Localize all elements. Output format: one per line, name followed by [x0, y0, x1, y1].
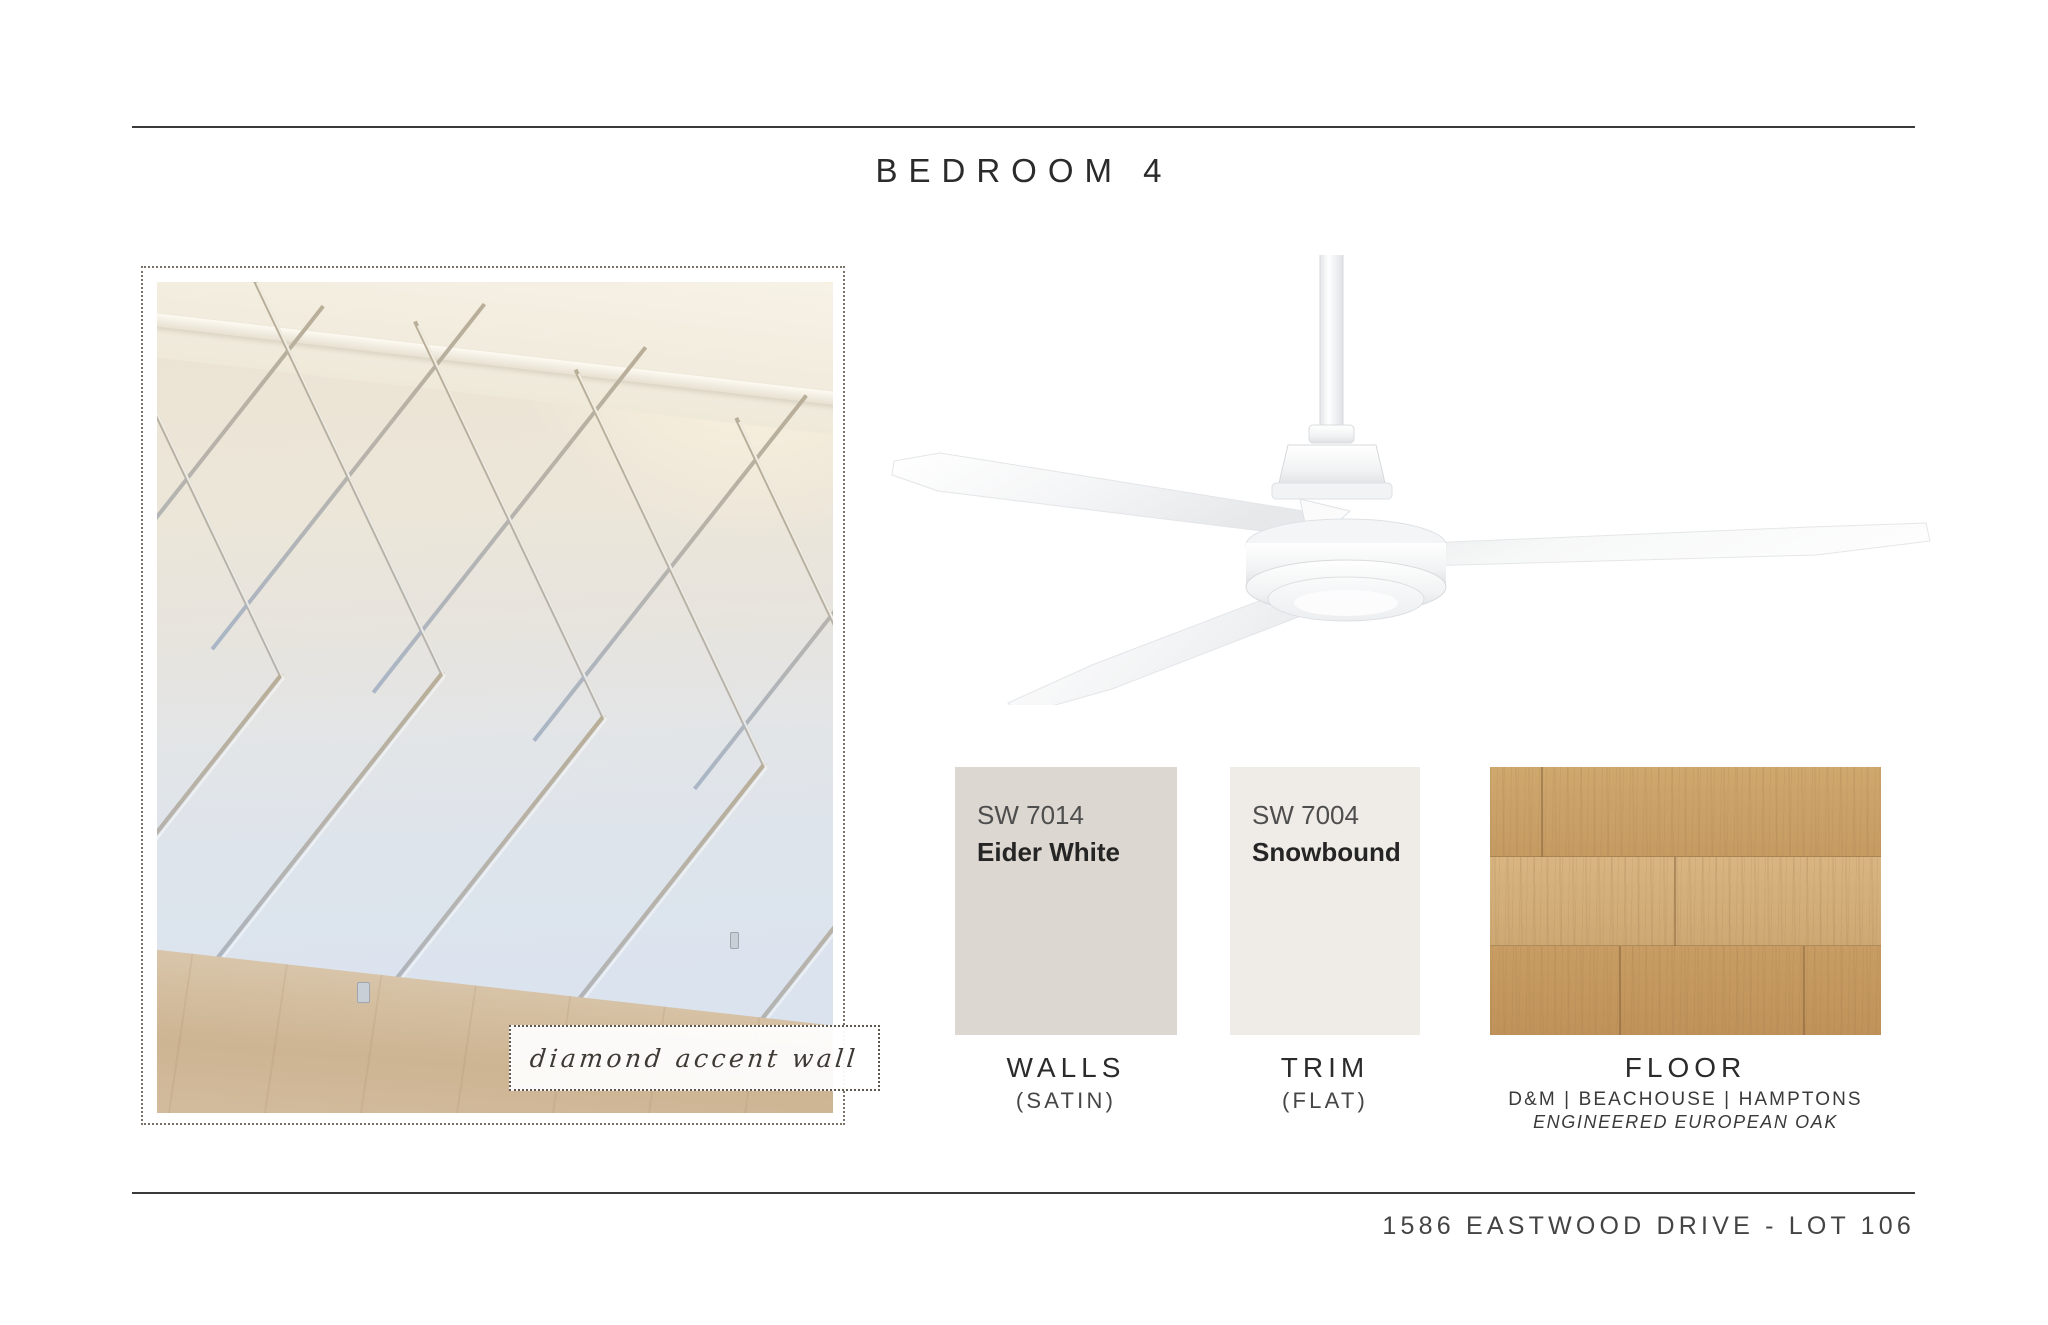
- swatch-spec-floor: ENGINEERED EUROPEAN OAK: [1490, 1112, 1881, 1133]
- swatch-label-floor: FLOOR: [1490, 1052, 1881, 1084]
- swatch-caption-walls: WALLS (SATIN): [955, 1052, 1177, 1114]
- paint-code-walls: SW 7014: [977, 800, 1084, 831]
- ceiling-fan-image: [880, 255, 1940, 705]
- swatch-caption-trim: TRIM (FLAT): [1230, 1052, 1420, 1114]
- paint-chip-trim: SW 7004 Snowbound: [1230, 767, 1420, 1035]
- accent-wall-photo: [157, 282, 833, 1113]
- header-divider-rule: [132, 126, 1915, 128]
- paint-name-trim: Snowbound: [1252, 837, 1401, 868]
- light-switch: [730, 932, 739, 949]
- swatch-label-trim: TRIM: [1230, 1052, 1420, 1084]
- fan-blade-upper-left: [892, 453, 1316, 537]
- swatch-sheen-walls: (SATIN): [955, 1088, 1177, 1114]
- paint-chip-walls: SW 7014 Eider White: [955, 767, 1177, 1035]
- swatch-label-walls: WALLS: [955, 1052, 1177, 1084]
- photo-caption-text: diamond accent wall: [529, 1044, 860, 1073]
- swatch-sheen-trim: (FLAT): [1230, 1088, 1420, 1114]
- wood-floor-chip: [1490, 767, 1881, 1035]
- photo-caption-box: diamond accent wall: [509, 1025, 880, 1091]
- swatch-floor: FLOOR D&M | BEACHOUSE | HAMPTONS ENGINEE…: [1490, 767, 1881, 1133]
- swatch-walls: SW 7014 Eider White WALLS (SATIN): [955, 767, 1177, 1114]
- accent-wall-photo-frame: [141, 266, 845, 1125]
- paint-name-walls: Eider White: [977, 837, 1120, 868]
- swatch-trim: SW 7004 Snowbound TRIM (FLAT): [1230, 767, 1420, 1114]
- swatch-caption-floor: FLOOR D&M | BEACHOUSE | HAMPTONS ENGINEE…: [1490, 1052, 1881, 1133]
- paint-code-trim: SW 7004: [1252, 800, 1359, 831]
- footer-address: 1586 EASTWOOD DRIVE - LOT 106: [0, 1212, 1915, 1241]
- footer-divider-rule: [132, 1192, 1915, 1194]
- fan-downrod: [1320, 255, 1343, 440]
- swatch-brand-floor: D&M | BEACHOUSE | HAMPTONS: [1490, 1089, 1881, 1111]
- page-title: BEDROOM 4: [0, 152, 2048, 190]
- wall-outlet: [357, 982, 370, 1003]
- fan-blade-right: [1380, 523, 1930, 567]
